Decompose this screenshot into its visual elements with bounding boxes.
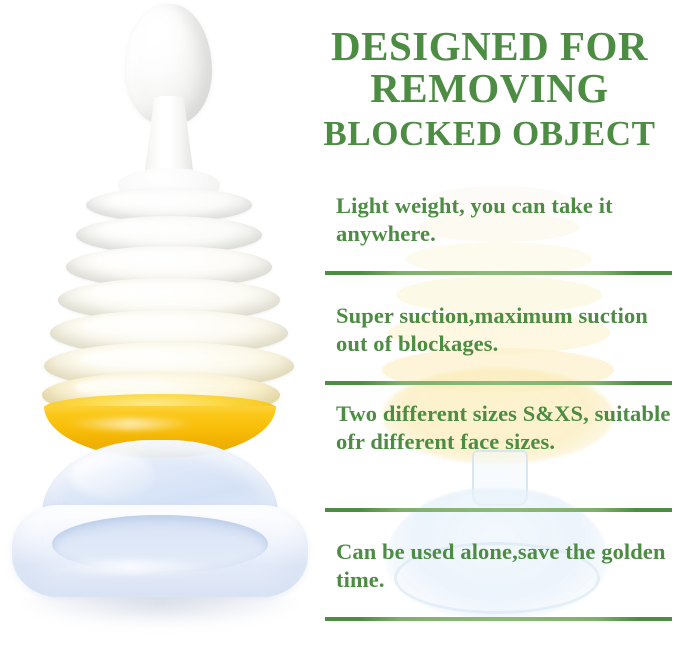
- product-photo: [0, 0, 320, 663]
- collar-highlight: [66, 418, 196, 430]
- feature-divider-3: [325, 508, 672, 512]
- feature-item-used-alone: Can be used alone,save the golden time.: [336, 538, 679, 595]
- feature-divider-4: [325, 617, 672, 621]
- mask-cushion-highlight: [40, 560, 220, 574]
- watermark-mask-neck: [472, 450, 528, 506]
- feature-text-panel: DESIGNED FOR REMOVING BLOCKED OBJECT Lig…: [300, 0, 679, 663]
- page-title: DESIGNED FOR REMOVING BLOCKED OBJECT: [300, 26, 679, 151]
- feature-text: Can be used alone,save the golden time.: [336, 538, 679, 595]
- feature-text: Two different sizes S&XS, suitable ofr d…: [336, 400, 679, 457]
- feature-item-super-suction: Super suction,maximum suction out of blo…: [336, 302, 679, 359]
- title-line-3: BLOCKED OBJECT: [300, 116, 679, 152]
- feature-item-light-weight: Light weight, you can take it anywhere.: [336, 192, 679, 249]
- feature-divider-2: [325, 381, 672, 385]
- title-line-1: DESIGNED FOR: [300, 26, 679, 68]
- feature-text: Super suction,maximum suction out of blo…: [336, 302, 679, 359]
- feature-item-two-sizes: Two different sizes S&XS, suitable ofr d…: [336, 400, 679, 457]
- feature-divider-1: [325, 271, 672, 275]
- title-line-2: REMOVING: [300, 68, 679, 110]
- infographic-page: DESIGNED FOR REMOVING BLOCKED OBJECT Lig…: [0, 0, 679, 663]
- mask-dome-highlight: [70, 452, 154, 498]
- feature-text: Light weight, you can take it anywhere.: [336, 192, 679, 249]
